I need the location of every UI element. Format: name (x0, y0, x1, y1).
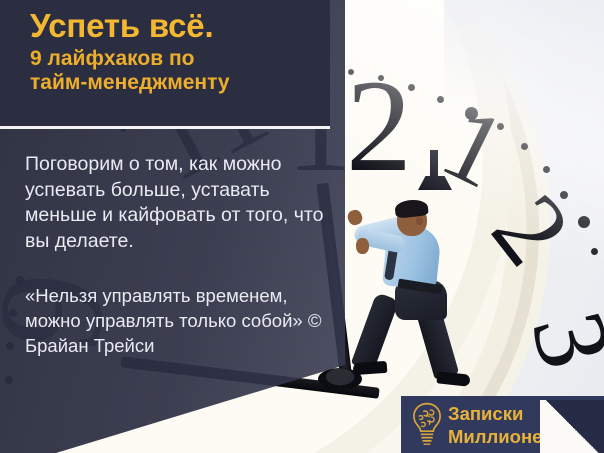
header-inner: Успеть всё. 9 лайфхаков по тайм-менеджме… (0, 0, 330, 96)
intro-paragraph: Поговорим о том, как можно успевать боль… (25, 152, 325, 254)
figure-back-leg (351, 292, 400, 372)
quote-paragraph: «Нельзя управлять временем, можно управл… (25, 284, 325, 358)
page-subtitle-line-1: 9 лайфхаков по (30, 47, 316, 71)
body-copy: Поговорим о том, как можно успевать боль… (25, 152, 325, 358)
lightbulb-brain-icon (409, 401, 445, 447)
brand-logo-band[interactable]: Записки Миллионера (401, 396, 604, 453)
page-subtitle-line-2: тайм-менеджменту (30, 71, 316, 95)
page-title: Успеть всё. (30, 9, 316, 44)
photo-highlight-wash-2 (444, 0, 604, 150)
logo-corner-accent (540, 400, 604, 453)
figure-front-shoe (436, 371, 470, 386)
header-panel: Успеть всё. 9 лайфхаков по тайм-менеджме… (0, 0, 330, 126)
header-divider (0, 126, 330, 129)
figure-back-shoe (353, 361, 388, 375)
poster-canvas: 11 12 1 2 3 9 (0, 0, 604, 453)
